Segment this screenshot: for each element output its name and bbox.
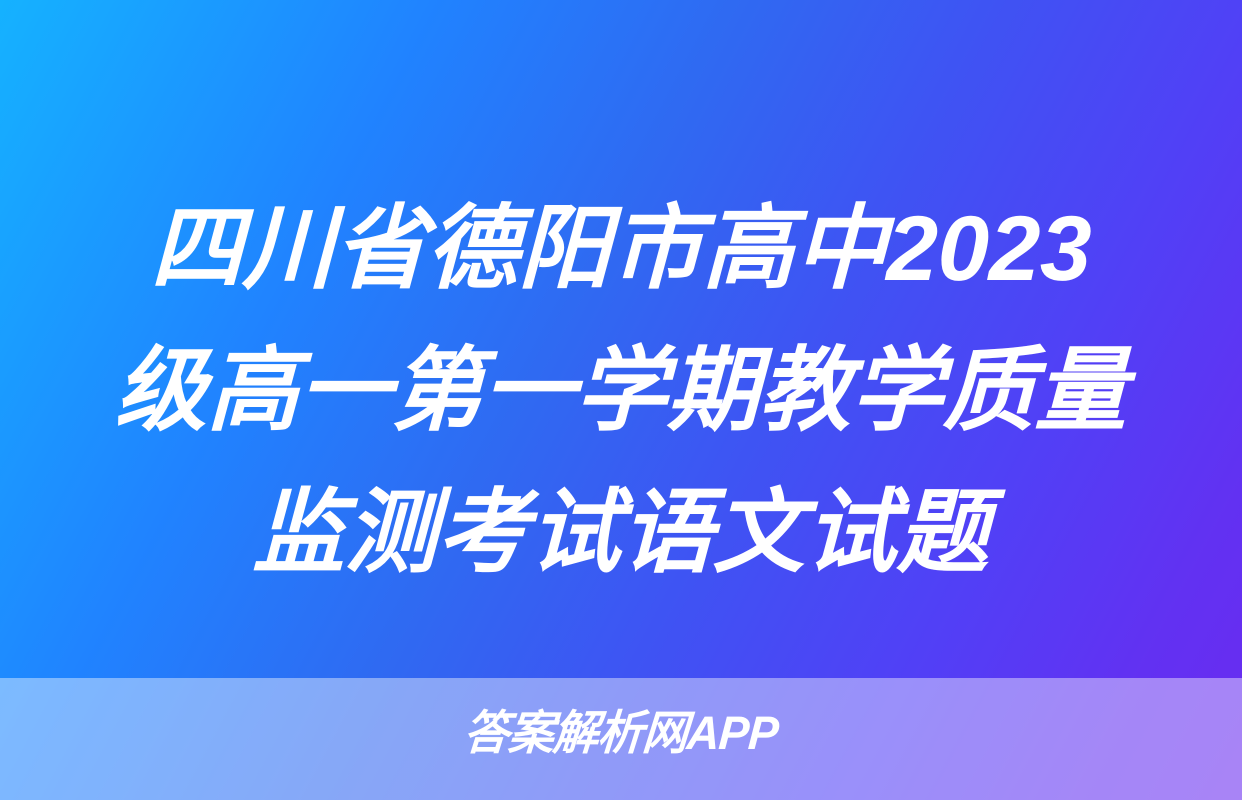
page-title-line-2: 级高一第一学期教学质量 <box>0 320 1242 462</box>
brand-watermark: 答案解析网APP <box>0 703 1242 763</box>
brand-watermark-label: 答案解析网APP <box>462 703 780 763</box>
page-title-line-3: 监测考试语文试题 <box>0 462 1242 604</box>
page-title-line-1: 四川省德阳市高中2023 <box>0 178 1242 320</box>
cover-banner: 四川省德阳市高中2023 级高一第一学期教学质量 监测考试语文试题 答案解析网A… <box>0 0 1242 800</box>
page-title: 四川省德阳市高中2023 级高一第一学期教学质量 监测考试语文试题 <box>0 178 1242 604</box>
